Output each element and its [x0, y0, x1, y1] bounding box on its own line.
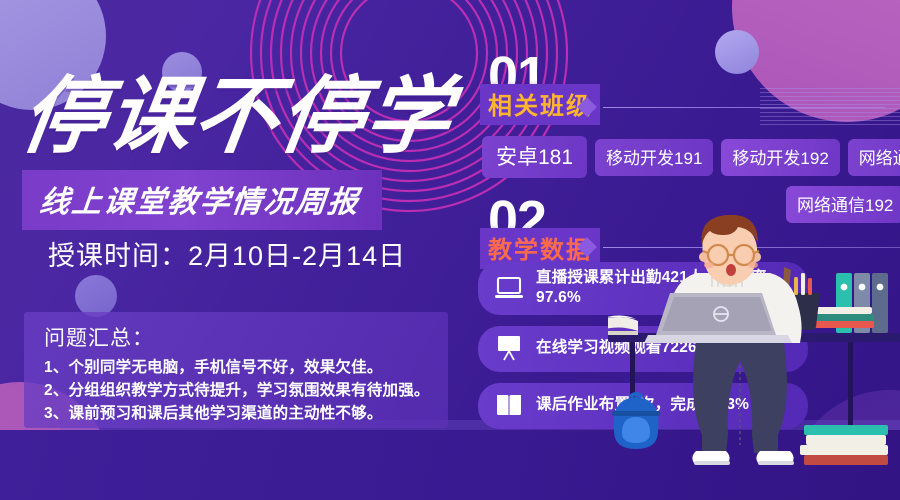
- issue-item-2: 2、分组组织教学方式待提升，学习氛围效果有待加强。: [44, 380, 432, 403]
- lecture-time-text: 授课时间：2月10日-2月14日: [48, 234, 406, 273]
- class-tag[interactable]: 移动开发191: [595, 139, 713, 176]
- page-title: 停课不停学: [16, 74, 458, 158]
- issues-heading: 问题汇总：: [44, 322, 432, 352]
- poster-canvas: 停课不停学 线上课堂教学情况周报 授课时间：2月10日-2月14日 问题汇总： …: [0, 0, 900, 500]
- issues-summary-box: 问题汇总： 1、个别同学无电脑，手机信号不好，效果欠佳。 2、分组组织教学方式待…: [24, 312, 448, 428]
- section-02-header: 02 教学数据: [480, 196, 600, 269]
- whiteboard-icon: [494, 335, 524, 361]
- class-tag[interactable]: 网络通信191: [848, 139, 900, 176]
- class-tags-row-1: 安卓181 移动开发191 移动开发192 网络通信191: [482, 136, 900, 178]
- subtitle-text: 线上课堂教学情况周报: [38, 177, 363, 221]
- open-book-icon: [494, 392, 524, 418]
- left-column: 停课不停学 线上课堂教学情况周报 授课时间：2月10日-2月14日 问题汇总： …: [0, 0, 470, 500]
- student-at-desk-with-laptop-illustration: [608, 215, 900, 500]
- class-tag[interactable]: 安卓181: [482, 136, 587, 178]
- class-tag[interactable]: 移动开发192: [721, 139, 839, 176]
- diamond-icon: [577, 97, 597, 117]
- issue-item-3: 3、课前预习和课后其他学习渠道的主动性不够。: [44, 403, 432, 426]
- subtitle-band: 线上课堂教学情况周报: [22, 170, 382, 230]
- section-01-rule: [580, 100, 885, 114]
- diamond-icon: [577, 237, 597, 257]
- rule-line: [603, 107, 885, 108]
- issue-item-1: 1、个别同学无电脑，手机信号不好，效果欠佳。: [44, 357, 432, 380]
- laptop-icon: [494, 275, 524, 301]
